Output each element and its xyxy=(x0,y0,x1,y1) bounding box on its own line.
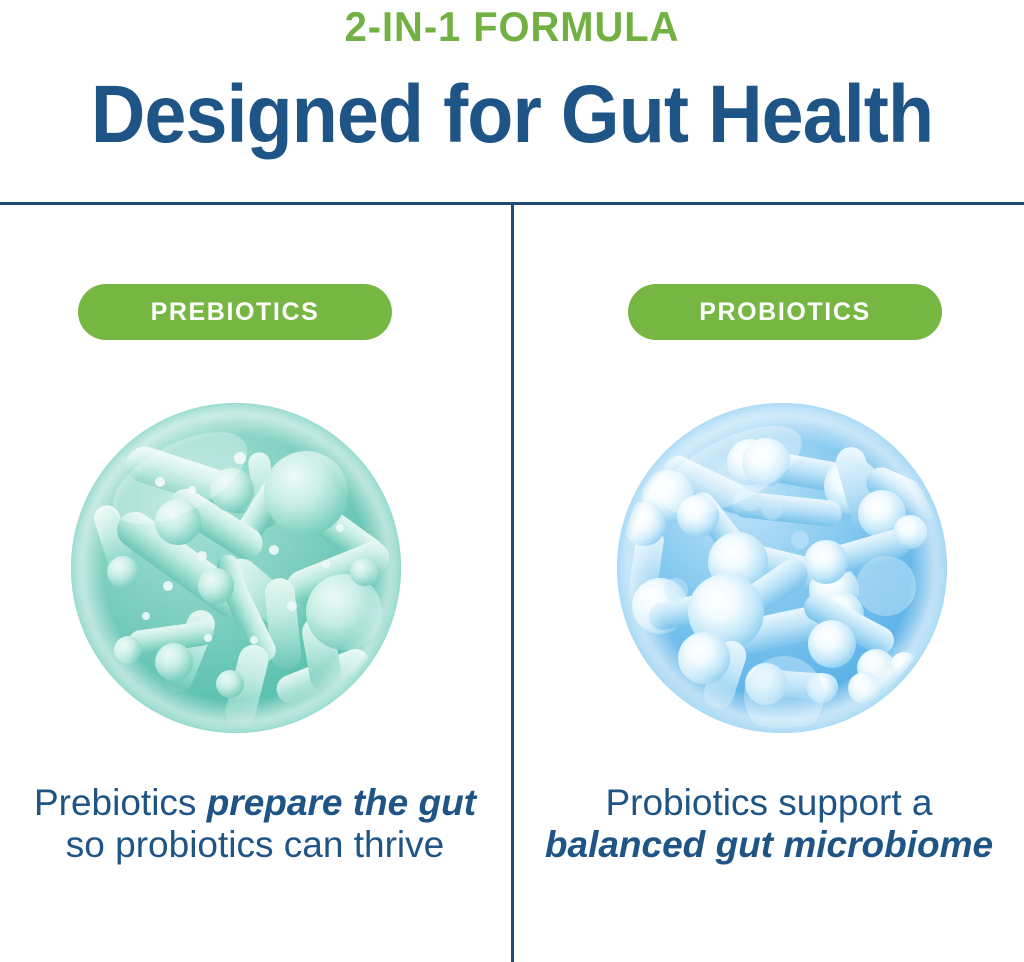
eyebrow-text: 2-IN-1 FORMULA xyxy=(26,6,999,48)
blue-probiotic-orb-icon xyxy=(614,400,950,741)
page-title: Designed for Gut Health xyxy=(41,74,983,156)
teal-bacteria-orb-icon xyxy=(68,400,404,741)
column-probiotics: PROBIOTICS xyxy=(514,202,1024,962)
caption-probiotics-lead: Probiotics support a xyxy=(605,782,932,823)
caption-prebiotics-emphasis: prepare the gut xyxy=(207,782,476,823)
badge-prebiotics-label: PREBIOTICS xyxy=(151,298,320,327)
column-prebiotics: PREBIOTICS xyxy=(0,202,511,962)
caption-probiotics: Probiotics support a balanced gut microb… xyxy=(534,782,1004,866)
caption-probiotics-emphasis: balanced gut microbiome xyxy=(545,824,993,865)
badge-prebiotics: PREBIOTICS xyxy=(78,284,392,340)
badge-probiotics-label: PROBIOTICS xyxy=(699,298,871,327)
caption-prebiotics-lead: Prebiotics xyxy=(34,782,207,823)
infographic-page: 2-IN-1 FORMULA Designed for Gut Health P… xyxy=(0,0,1024,962)
badge-probiotics: PROBIOTICS xyxy=(628,284,942,340)
caption-prebiotics-tail: so probiotics can thrive xyxy=(66,824,444,865)
caption-prebiotics: Prebiotics prepare the gut so probiotics… xyxy=(15,782,495,866)
